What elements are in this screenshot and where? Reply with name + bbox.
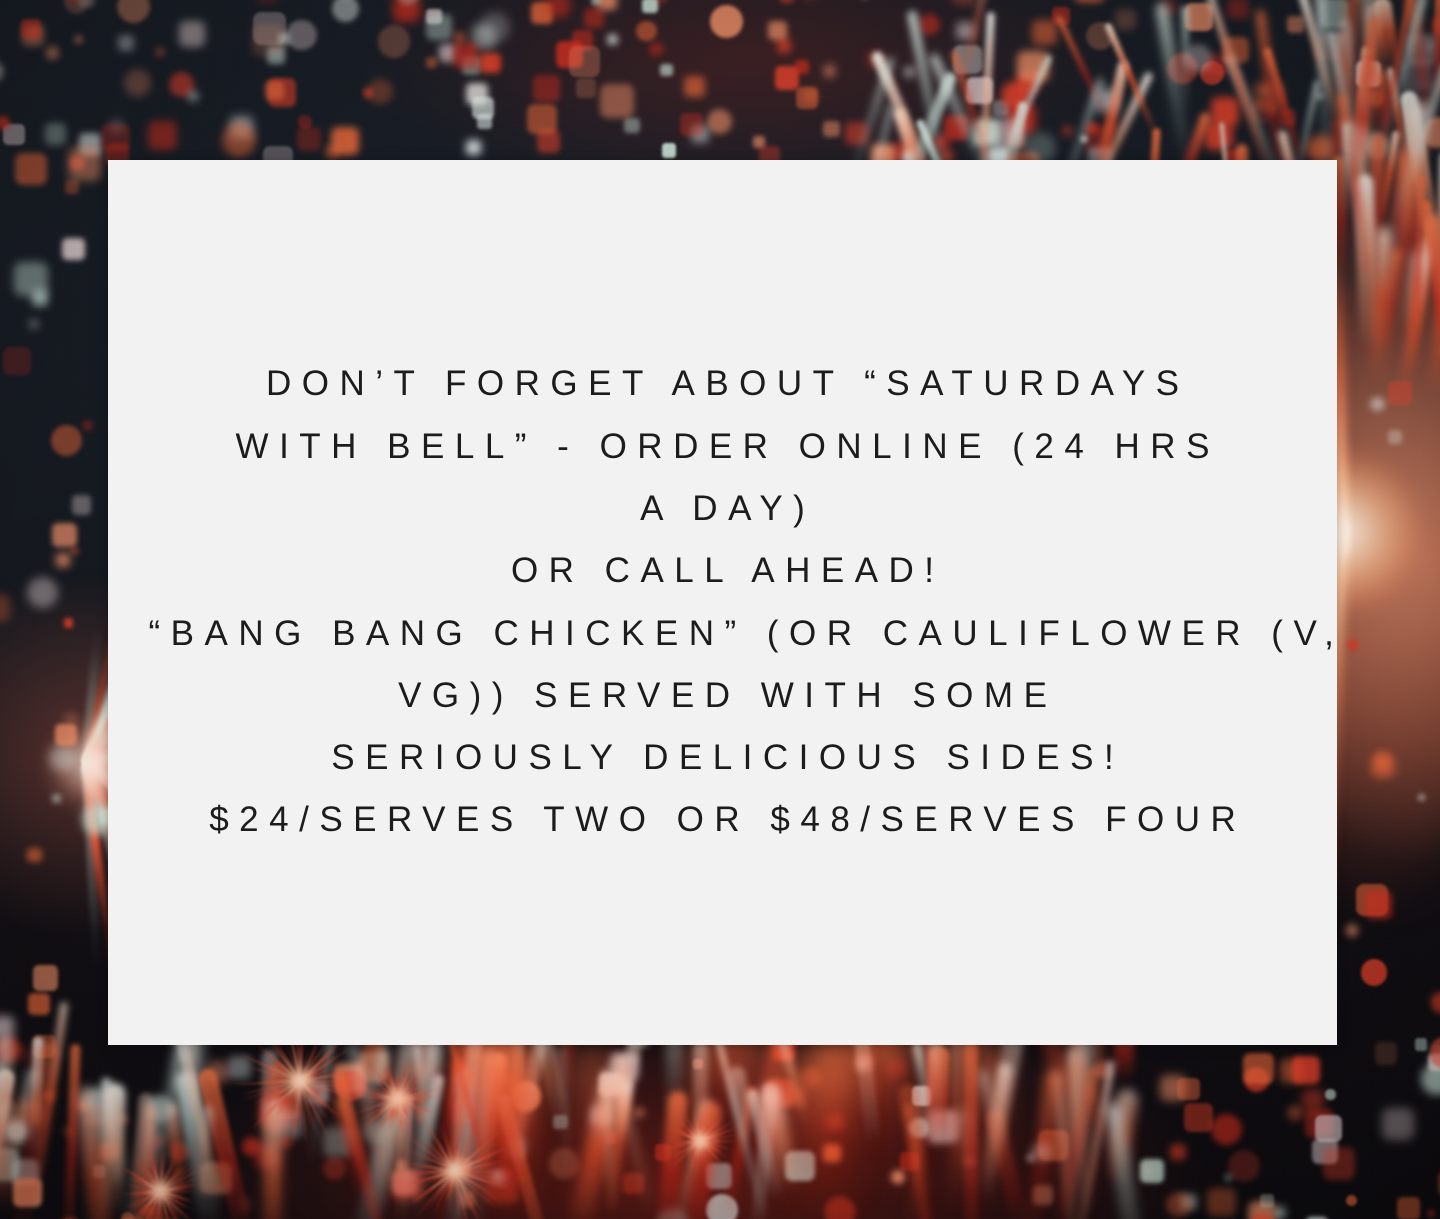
promo-line: $24/SERVES TWO OR $48/SERVES FOUR (138, 789, 1307, 851)
promo-line: A DAY) (138, 478, 1307, 540)
promo-line: OR CALL AHEAD! (138, 540, 1307, 602)
chrysanthemum-core (388, 1088, 408, 1108)
promo-line: WITH BELL” - ORDER ONLINE (24 HRS (138, 416, 1307, 478)
chrysanthemum-core (149, 1179, 171, 1201)
promo-line: “BANG BANG CHICKEN” (OR CAULIFLOWER (V, (138, 603, 1307, 665)
promo-line: DON’T FORGET ABOUT “SATURDAYS (138, 353, 1307, 415)
chrysanthemum-core (285, 1065, 316, 1096)
chrysanthemum-core (441, 1156, 469, 1184)
chrysanthemum-core (692, 1132, 709, 1149)
promo-text-block: DON’T FORGET ABOUT “SATURDAYS WITH BELL”… (138, 353, 1307, 851)
poster-canvas: DON’T FORGET ABOUT “SATURDAYS WITH BELL”… (0, 0, 1440, 1219)
promo-line: VG)) SERVED WITH SOME (138, 665, 1307, 727)
promo-card: DON’T FORGET ABOUT “SATURDAYS WITH BELL”… (108, 160, 1337, 1045)
promo-line: SERIOUSLY DELICIOUS SIDES! (138, 727, 1307, 789)
